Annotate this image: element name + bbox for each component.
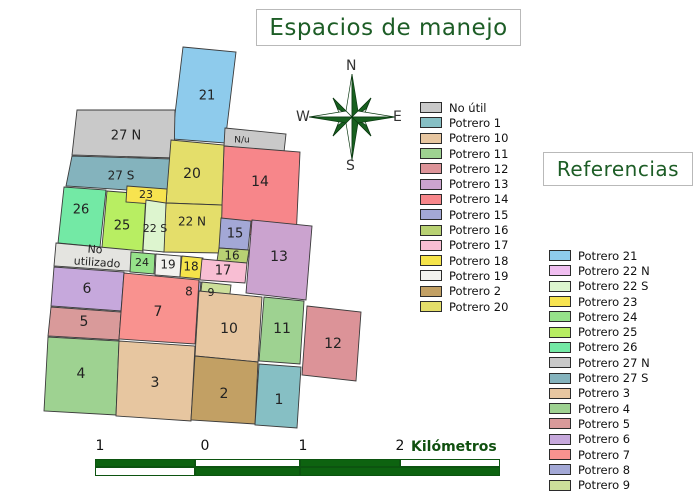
legend-swatch (549, 449, 571, 460)
page-title: Espacios de manejo (256, 9, 521, 46)
compass-east-label: E (393, 109, 402, 125)
legend-swatch (549, 418, 571, 429)
parcel-22s[interactable] (143, 200, 166, 252)
parcel-4[interactable] (44, 337, 119, 415)
legend-item[interactable]: Potrero 22 N (549, 263, 650, 278)
legend-item[interactable]: Potrero 10 (420, 131, 508, 146)
legend-swatch (549, 403, 571, 414)
legend-label: Potrero 9 (578, 478, 630, 492)
legend-swatch (549, 281, 571, 292)
legend-label: Potrero 21 (578, 249, 637, 263)
legend-item[interactable]: Potrero 4 (549, 401, 650, 416)
legend-swatch (420, 133, 442, 144)
scale-tick-label: 0 (201, 438, 210, 454)
legend-swatch (549, 373, 571, 384)
legend-label: Potrero 3 (578, 386, 630, 400)
compass-icon (305, 62, 400, 172)
legend-item[interactable]: Potrero 7 (549, 447, 650, 462)
references-title: Referencias (543, 152, 693, 186)
legend-label: Potrero 12 (449, 162, 508, 176)
legend-label: Potrero 22 N (578, 264, 650, 278)
legend-label: Potrero 23 (578, 295, 637, 309)
compass-rose: N S W E (305, 62, 400, 172)
compass-south-label: S (346, 158, 355, 174)
legend-label: Potrero 11 (449, 147, 508, 161)
legend-item[interactable]: Potrero 14 (420, 192, 508, 207)
parcel-2[interactable] (191, 356, 258, 424)
legend-swatch (420, 225, 442, 236)
legend-label: Potrero 20 (449, 300, 508, 314)
scale-tick-label: 1 (299, 438, 308, 454)
parcel-17[interactable] (200, 259, 247, 283)
legend-item[interactable]: Potrero 12 (420, 161, 508, 176)
legend-swatch (549, 357, 571, 368)
legend-swatch (420, 240, 442, 251)
legend-column-right: Potrero 21Potrero 22 NPotrero 22 SPotrer… (549, 248, 650, 493)
parcel-10[interactable] (195, 291, 262, 362)
scale-bar: 1012 Kilómetros (95, 438, 515, 486)
legend-label: Potrero 6 (578, 432, 630, 446)
legend-swatch (549, 265, 571, 276)
legend-item[interactable]: Potrero 21 (549, 248, 650, 263)
parcel-6[interactable] (51, 267, 124, 311)
legend-swatch (549, 311, 571, 322)
legend-swatch (420, 270, 442, 281)
legend-item[interactable]: Potrero 2 (420, 284, 508, 299)
legend-item[interactable]: Potrero 13 (420, 176, 508, 191)
legend-label: Potrero 18 (449, 254, 508, 268)
legend-label: Potrero 22 S (578, 279, 648, 293)
parcel-20[interactable] (166, 140, 224, 205)
legend-item[interactable]: Potrero 18 (420, 253, 508, 268)
legend-swatch (420, 301, 442, 312)
legend-item[interactable]: Potrero 24 (549, 309, 650, 324)
parcel-12[interactable] (302, 306, 361, 381)
parcel-15[interactable] (219, 218, 251, 250)
legend-item[interactable]: Potrero 19 (420, 268, 508, 283)
legend-swatch (549, 296, 571, 307)
legend-label: Potrero 27 S (578, 371, 648, 385)
legend-swatch (420, 255, 442, 266)
legend-item[interactable]: Potrero 3 (549, 386, 650, 401)
parcel-22n[interactable] (163, 203, 222, 253)
legend-item[interactable]: Potrero 6 (549, 432, 650, 447)
legend-swatch (420, 286, 442, 297)
legend-label: Potrero 15 (449, 208, 508, 222)
parcel-13[interactable] (246, 220, 312, 300)
legend-item[interactable]: Potrero 11 (420, 146, 508, 161)
scale-segment (195, 467, 300, 476)
legend-swatch (549, 388, 571, 399)
parcel-27s[interactable] (66, 156, 174, 193)
legend-item[interactable]: Potrero 25 (549, 324, 650, 339)
parcel-18[interactable] (180, 256, 203, 279)
legend-item[interactable]: Potrero 26 (549, 340, 650, 355)
legend-label: Potrero 1 (449, 116, 501, 130)
parcel-26[interactable] (58, 187, 106, 247)
legend-swatch (549, 480, 571, 491)
scale-segment (95, 467, 195, 476)
compass-north-label: N (346, 58, 356, 74)
scale-tick-label: 2 (396, 438, 405, 454)
scale-segment (195, 459, 300, 467)
legend-label: Potrero 25 (578, 325, 637, 339)
legend-label: Potrero 17 (449, 238, 508, 252)
legend-item[interactable]: Potrero 22 S (549, 279, 650, 294)
legend-swatch (549, 464, 571, 475)
legend-swatch (420, 148, 442, 159)
legend-label: Potrero 5 (578, 417, 630, 431)
map-poster: 2127 N27 SN/u142022 N26252322 S241918151… (0, 0, 700, 495)
legend-item[interactable]: Potrero 1 (420, 115, 508, 130)
scale-bar-unit-label: Kilómetros (411, 439, 497, 455)
legend-label: Potrero 2 (449, 284, 501, 298)
parcel-19[interactable] (155, 254, 181, 277)
parcel-27n[interactable] (72, 110, 175, 158)
legend-swatch (420, 117, 442, 128)
legend-label: Potrero 10 (449, 131, 508, 145)
legend-label: Potrero 19 (449, 269, 508, 283)
parcel-3[interactable] (116, 341, 195, 421)
legend-label: Potrero 4 (578, 402, 630, 416)
scale-segment (400, 459, 500, 467)
scale-bar-segments (95, 459, 400, 476)
legend-swatch (420, 163, 442, 174)
legend-swatch (420, 194, 442, 205)
legend-item[interactable]: Potrero 17 (420, 238, 508, 253)
compass-west-label: W (296, 109, 310, 125)
legend-column-left: No útilPotrero 1Potrero 10Potrero 11Potr… (420, 100, 508, 314)
legend-swatch (420, 209, 442, 220)
legend-item[interactable]: No útil (420, 100, 508, 115)
parcel-1[interactable] (255, 364, 301, 428)
legend-swatch (420, 102, 442, 113)
legend-swatch (549, 250, 571, 261)
legend-swatch (549, 434, 571, 445)
legend-item[interactable]: Potrero 9 (549, 477, 650, 492)
legend-item[interactable]: Potrero 20 (420, 299, 508, 314)
legend-item[interactable]: Potrero 16 (420, 222, 508, 237)
legend-item[interactable]: Potrero 27 N (549, 355, 650, 370)
legend-label: No útil (449, 101, 486, 115)
legend-item[interactable]: Potrero 15 (420, 207, 508, 222)
scale-segment (95, 459, 195, 467)
legend-label: Potrero 8 (578, 463, 630, 477)
legend-swatch (549, 342, 571, 353)
legend-label: Potrero 26 (578, 340, 637, 354)
legend-label: Potrero 16 (449, 223, 508, 237)
legend-swatch (420, 179, 442, 190)
parcel-11[interactable] (259, 297, 304, 364)
legend-label: Potrero 14 (449, 192, 508, 206)
parcel-7[interactable] (119, 273, 199, 344)
parcel-5[interactable] (48, 307, 121, 340)
legend-item[interactable]: Potrero 23 (549, 294, 650, 309)
scale-tick-label: 1 (96, 438, 105, 454)
legend-label: Potrero 24 (578, 310, 637, 324)
parcel-24[interactable] (130, 252, 155, 274)
legend-label: Potrero 7 (578, 448, 630, 462)
legend-item[interactable]: Potrero 5 (549, 416, 650, 431)
legend-label: Potrero 13 (449, 177, 508, 191)
legend-swatch (549, 327, 571, 338)
scale-segment (300, 467, 500, 476)
legend-item[interactable]: Potrero 8 (549, 462, 650, 477)
legend-label: Potrero 27 N (578, 356, 650, 370)
scale-segment (300, 459, 400, 467)
legend-item[interactable]: Potrero 27 S (549, 370, 650, 385)
